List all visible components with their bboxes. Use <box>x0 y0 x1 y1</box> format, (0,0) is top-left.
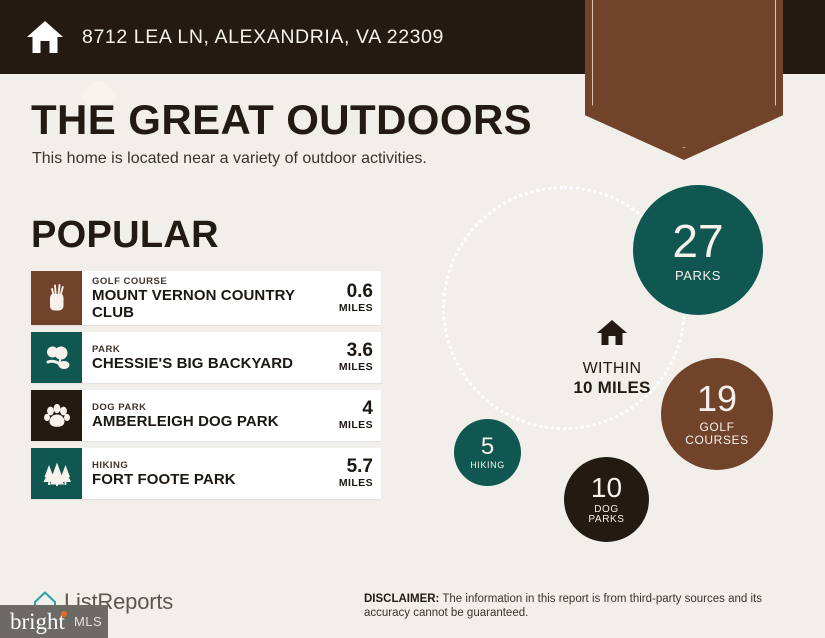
stat-value: 5 <box>481 435 494 459</box>
list-item[interactable]: DOG PARK AMBERLEIGH DOG PARK 4 MILES <box>31 390 381 441</box>
diagram-center-label: WITHIN 10 MILES <box>542 318 682 398</box>
list-item-name: MOUNT VERNON COUNTRY CLUB <box>92 287 311 321</box>
list-item-category: PARK <box>92 344 311 355</box>
list-item-text: PARK CHESSIE'S BIG BACKYARD <box>82 332 315 383</box>
list-item[interactable]: HIKING FORT FOOTE PARK 5.7 MILES <box>31 448 381 499</box>
stat-value: 27 <box>672 218 723 264</box>
list-item-text: GOLF COURSE MOUNT VERNON COUNTRY CLUB <box>82 271 315 325</box>
golf-bag-icon <box>31 271 82 325</box>
disclaimer-label: DISCLAIMER: <box>364 593 439 605</box>
list-item-text: HIKING FORT FOOTE PARK <box>82 448 315 499</box>
bright-mls-wordmark: bright <box>10 610 65 633</box>
outdoor-report-badge <box>585 0 783 160</box>
popular-heading: POPULAR <box>31 214 219 257</box>
stat-bubble-parks: 27 PARKS <box>633 185 763 315</box>
distance-value: 4 <box>362 399 373 419</box>
list-item-distance: 0.6 MILES <box>315 271 381 325</box>
bright-mls-brand: bright <box>10 609 65 634</box>
distance-unit: MILES <box>339 419 373 432</box>
home-icon <box>542 318 682 353</box>
distance-value: 3.6 <box>347 341 373 361</box>
page-subtitle: This home is located near a variety of o… <box>32 150 427 168</box>
badge-inner-border <box>592 0 776 148</box>
park-tree-icon <box>31 332 82 383</box>
list-item-category: DOG PARK <box>92 402 311 413</box>
stat-label-line2: PARKS <box>588 515 624 526</box>
list-item-category: HIKING <box>92 460 311 471</box>
bright-mls-badge: bright MLS <box>0 605 108 638</box>
center-label-line2: 10 MILES <box>542 378 682 398</box>
popular-list: GOLF COURSE MOUNT VERNON COUNTRY CLUB 0.… <box>31 271 381 506</box>
stat-bubble-dog-parks: 10 DOG PARKS <box>564 457 649 542</box>
center-label-line1: WITHIN <box>542 359 682 378</box>
list-item-name: AMBERLEIGH DOG PARK <box>92 413 311 430</box>
list-item-distance: 3.6 MILES <box>315 332 381 383</box>
disclaimer: DISCLAIMER: The information in this repo… <box>364 592 804 620</box>
list-item-text: DOG PARK AMBERLEIGH DOG PARK <box>82 390 315 441</box>
list-item-name: CHESSIE'S BIG BACKYARD <box>92 355 311 372</box>
paw-print-icon <box>31 390 82 441</box>
list-item-name: FORT FOOTE PARK <box>92 471 311 488</box>
list-item-category: GOLF COURSE <box>92 276 311 287</box>
bright-mls-suffix: MLS <box>74 614 102 629</box>
list-item-distance: 5.7 MILES <box>315 448 381 499</box>
stat-bubble-hiking: 5 HIKING <box>454 419 521 486</box>
distance-value: 0.6 <box>347 282 373 302</box>
property-address: 8712 LEA LN, ALEXANDRIA, VA 22309 <box>82 26 444 49</box>
bright-mls-dot-icon <box>61 611 67 617</box>
list-item[interactable]: PARK CHESSIE'S BIG BACKYARD 3.6 MILES <box>31 332 381 383</box>
distance-value: 5.7 <box>347 457 373 477</box>
stat-label: HIKING <box>470 461 505 470</box>
home-icon <box>24 17 66 57</box>
outdoor-stats-diagram: 27 PARKS 19 GOLF COURSES 10 DOG PARKS 5 … <box>400 170 825 560</box>
distance-unit: MILES <box>339 477 373 490</box>
stat-value: 19 <box>697 381 737 417</box>
pine-trees-icon <box>31 448 82 499</box>
stat-value: 10 <box>591 474 622 502</box>
stat-label-line2: COURSES <box>685 434 749 447</box>
distance-unit: MILES <box>339 361 373 374</box>
distance-unit: MILES <box>339 302 373 315</box>
stat-label: PARKS <box>675 269 721 283</box>
page-title: THE GREAT OUTDOORS <box>31 96 532 144</box>
list-item[interactable]: GOLF COURSE MOUNT VERNON COUNTRY CLUB 0.… <box>31 271 381 325</box>
stat-label: DOG PARKS <box>588 505 624 526</box>
stat-label: GOLF COURSES <box>685 421 749 446</box>
list-item-distance: 4 MILES <box>315 390 381 441</box>
